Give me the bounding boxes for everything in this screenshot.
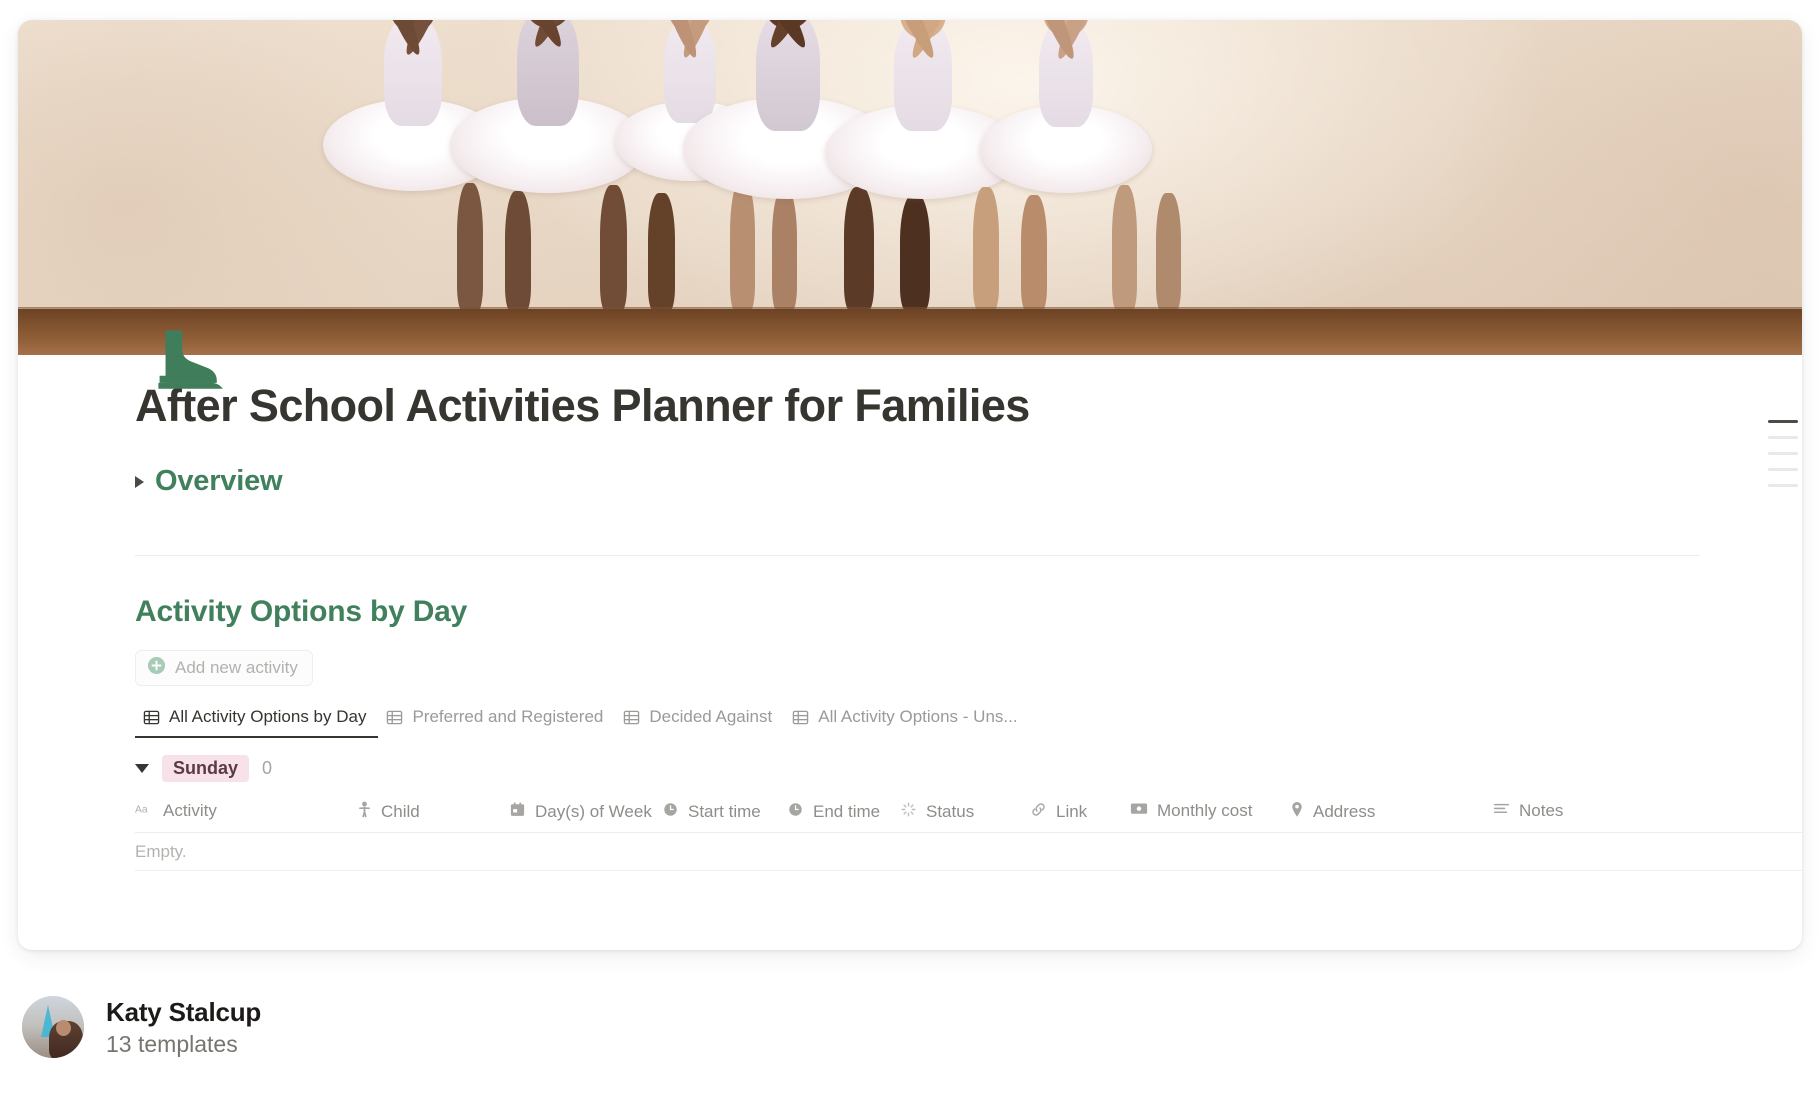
toc-bar[interactable] [1768, 484, 1798, 487]
money-icon [1130, 801, 1148, 821]
column-label: Day(s) of Week [535, 802, 652, 822]
expanded-triangle-icon[interactable] [135, 764, 149, 773]
column-header-address[interactable]: Address [1290, 801, 1375, 823]
table-of-contents-minimap[interactable] [1768, 420, 1798, 487]
author-name: Katy Stalcup [106, 997, 261, 1028]
column-header-status[interactable]: Status [900, 801, 974, 823]
status-spinner-icon [900, 801, 917, 823]
person-icon [357, 801, 372, 823]
ice-skate-icon[interactable] [148, 328, 226, 390]
table-icon [143, 709, 160, 726]
tab-all-activity-options-unsorted[interactable]: All Activity Options - Uns... [784, 707, 1029, 738]
column-header-days-of-week[interactable]: Day(s) of Week [509, 801, 652, 823]
tab-label: Preferred and Registered [412, 707, 603, 727]
column-label: End time [813, 802, 880, 822]
column-label: Monthly cost [1157, 801, 1252, 821]
toc-bar-active[interactable] [1768, 420, 1798, 423]
plus-circle-icon [147, 656, 166, 680]
title-aa-icon: Aa [135, 801, 154, 821]
toc-bar[interactable] [1768, 468, 1798, 471]
avatar [22, 996, 84, 1058]
column-header-activity[interactable]: Aa Activity [135, 801, 217, 821]
column-header-monthly-cost[interactable]: Monthly cost [1130, 801, 1252, 821]
column-label: Start time [688, 802, 761, 822]
clock-icon [662, 801, 679, 823]
column-label: Child [381, 802, 420, 822]
column-header-child[interactable]: Child [357, 801, 420, 823]
toc-bar[interactable] [1768, 436, 1798, 439]
table-empty-row[interactable]: Empty. [135, 833, 1802, 871]
text-lines-icon [1493, 801, 1510, 821]
tab-decided-against[interactable]: Decided Against [615, 707, 784, 738]
view-tabs: All Activity Options by Day Preferred an… [135, 707, 1030, 738]
toc-bar[interactable] [1768, 452, 1798, 455]
author-block[interactable]: Katy Stalcup 13 templates [22, 996, 261, 1058]
table-icon [792, 709, 809, 726]
template-card: After School Activities Planner for Fami… [18, 20, 1802, 950]
tab-label: All Activity Options by Day [169, 707, 366, 727]
column-label: Activity [163, 801, 217, 821]
map-pin-icon [1290, 801, 1304, 823]
table-icon [386, 709, 403, 726]
calendar-icon [509, 801, 526, 823]
svg-text:Aa: Aa [135, 804, 148, 815]
link-icon [1030, 801, 1047, 823]
section-divider [135, 555, 1700, 556]
clock-icon [787, 801, 804, 823]
tab-all-activity-options-by-day[interactable]: All Activity Options by Day [135, 707, 378, 738]
column-header-notes[interactable]: Notes [1493, 801, 1563, 821]
cover-image [18, 20, 1802, 355]
column-label: Link [1056, 802, 1087, 822]
table-icon [623, 709, 640, 726]
tab-label: All Activity Options - Uns... [818, 707, 1017, 727]
overview-toggle[interactable]: Overview [135, 465, 282, 498]
overview-toggle-label: Overview [155, 465, 282, 498]
column-header-link[interactable]: Link [1030, 801, 1087, 823]
collapsed-triangle-icon[interactable] [135, 476, 144, 488]
add-new-activity-label: Add new activity [175, 658, 298, 678]
template-preview-page: After School Activities Planner for Fami… [0, 0, 1820, 1120]
empty-placeholder: Empty. [135, 842, 187, 862]
group-name-badge: Sunday [162, 755, 249, 782]
column-label: Address [1313, 802, 1375, 822]
table-header-row: Aa Activity [135, 793, 1802, 833]
group-count: 0 [262, 758, 272, 779]
add-new-activity-button[interactable]: Add new activity [135, 650, 313, 686]
section-heading: Activity Options by Day [135, 595, 467, 629]
cover-floor [18, 309, 1802, 355]
column-header-end-time[interactable]: End time [787, 801, 880, 823]
page-title: After School Activities Planner for Fami… [135, 380, 1030, 432]
author-template-count: 13 templates [106, 1031, 261, 1058]
column-label: Status [926, 802, 974, 822]
activity-table: Aa Activity [18, 793, 1802, 871]
tab-label: Decided Against [649, 707, 772, 727]
tab-preferred-and-registered[interactable]: Preferred and Registered [378, 707, 615, 738]
column-label: Notes [1519, 801, 1563, 821]
column-header-start-time[interactable]: Start time [662, 801, 761, 823]
group-header-sunday[interactable]: Sunday 0 [135, 755, 272, 782]
